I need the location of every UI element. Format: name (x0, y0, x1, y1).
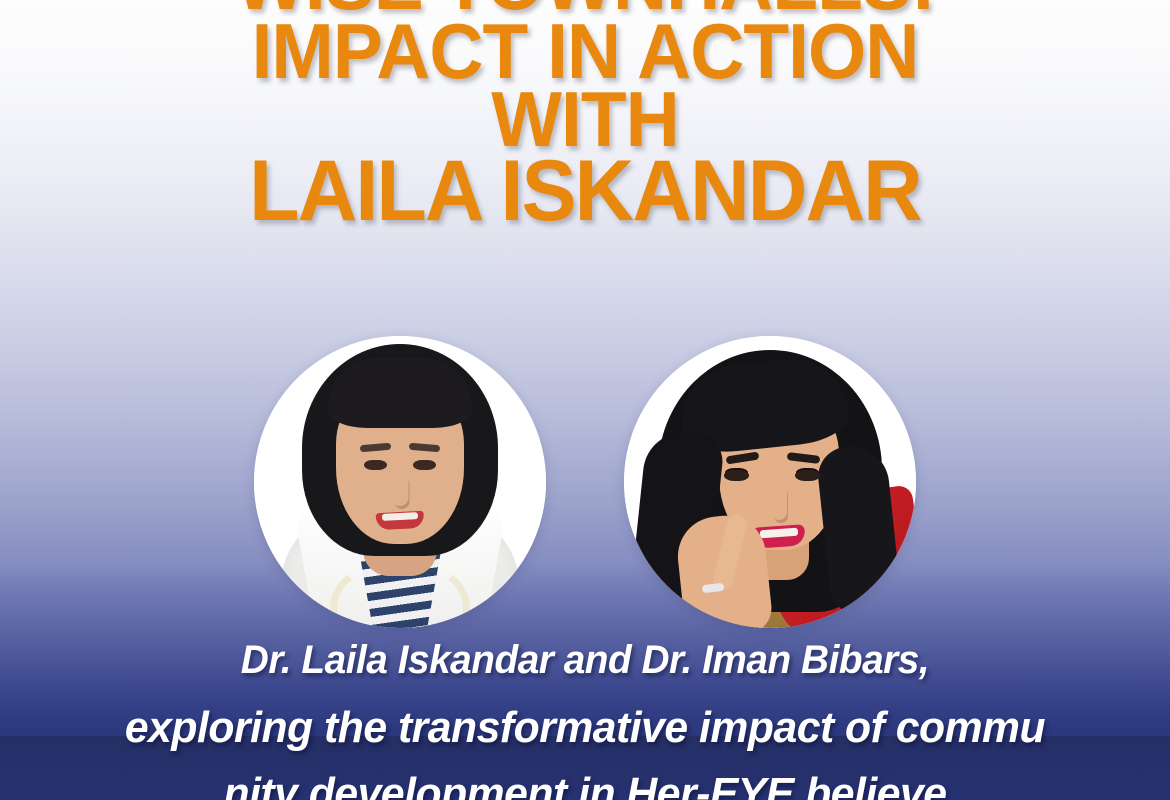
caption-line-1: Dr. Laila Iskandar and Dr. Iman Bibars, (18, 640, 1153, 680)
nose (392, 476, 409, 506)
headline-block: WISE TOWNHALLS: IMPACT IN ACTION WITH LA… (0, 0, 1170, 230)
nose (771, 488, 787, 520)
hair-fringe (327, 358, 473, 428)
caption-line-3: nity development in Her-EYE believe (18, 772, 1153, 800)
caption-block: Dr. Laila Iskandar and Dr. Iman Bibars, … (0, 640, 1170, 800)
poster-canvas: WISE TOWNHALLS: IMPACT IN ACTION WITH LA… (0, 0, 1170, 800)
headline-line-4: LAILA ISKANDAR (23, 154, 1146, 230)
eye-left (724, 470, 749, 481)
portrait-row (0, 336, 1170, 632)
portrait-iman-bibars (624, 336, 916, 628)
eye-right (413, 460, 436, 470)
caption-line-2: exploring the transformative impact of c… (18, 706, 1153, 750)
eye-left (364, 460, 387, 470)
portrait-laila-iskandar (254, 336, 546, 628)
eye-right (795, 470, 820, 481)
